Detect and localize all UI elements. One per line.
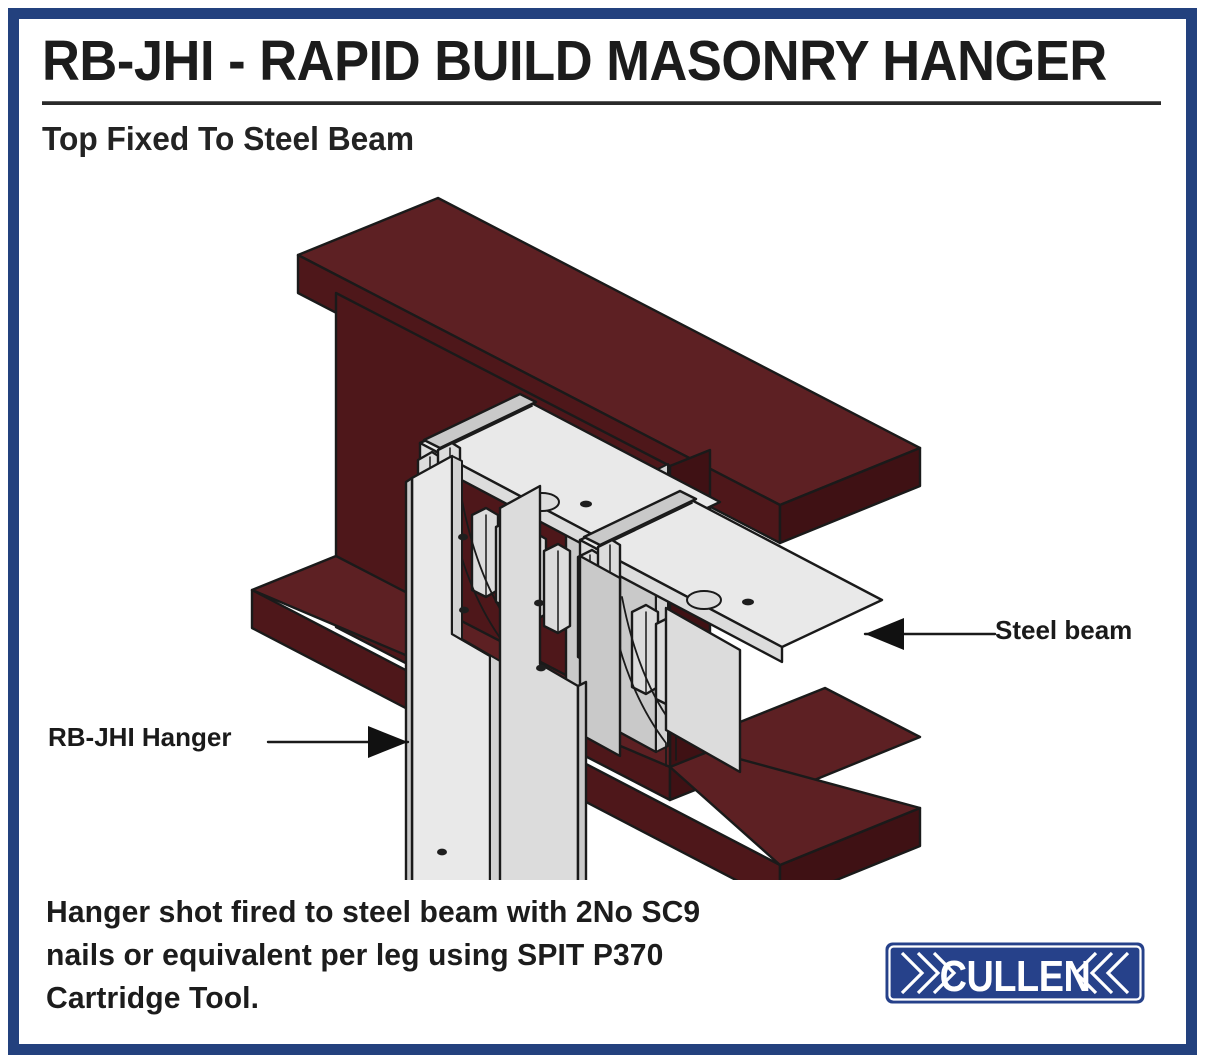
footer-note-line-2: nails or equivalent per leg using SPIT P… [46, 933, 841, 976]
page-title: RB-JHI - RAPID BUILD MASONRY HANGER [42, 26, 1072, 96]
hanger-right-leg-edge [578, 682, 586, 880]
callout-leader-rb-jhi-hanger [268, 726, 408, 758]
footer-note-line-3: Cartridge Tool. [46, 976, 841, 1019]
restraint-finger [544, 544, 570, 633]
hanger-top-plate-hole-large-2 [687, 591, 721, 609]
illustration-page: RB-JHI - RAPID BUILD MASONRY HANGER Top … [0, 0, 1205, 1063]
hanger-top-plate-hole-small-1 [580, 501, 592, 508]
title-divider-rule [42, 101, 1161, 105]
hanger-nail-hole [437, 849, 447, 856]
hanger-nail-hole [459, 607, 469, 614]
arrow-head-right [368, 726, 408, 758]
page-subtitle: Top Fixed To Steel Beam [42, 118, 414, 160]
hanger-nail-hole [458, 534, 468, 541]
hanger-nail-hole [534, 600, 544, 607]
hanger-nail-hole [536, 665, 546, 672]
callout-leader-steel-beam [865, 618, 995, 650]
logo-wordmark: CULLEN [940, 951, 1091, 1000]
cullen-logo: CULLEN [884, 941, 1146, 1005]
cullen-logo-svg: CULLEN [884, 941, 1146, 1005]
technical-drawing: .ln { fill:none; stroke:#1a1a1a; stroke-… [20, 160, 1180, 880]
hanger-top-plate-hole-small-2 [742, 599, 754, 606]
footer-note: Hanger shot fired to steel beam with 2No… [46, 890, 841, 1019]
footer-note-line-1: Hanger shot fired to steel beam with 2No… [46, 890, 841, 933]
arrow-head-left [865, 618, 904, 650]
callout-label-rb-jhi-hanger: RB-JHI Hanger [48, 722, 231, 752]
callout-label-steel-beam: Steel beam [995, 615, 1132, 645]
hanger-left-leg-edge [406, 478, 412, 880]
isometric-assembly-svg: .ln { fill:none; stroke:#1a1a1a; stroke-… [20, 160, 1180, 880]
